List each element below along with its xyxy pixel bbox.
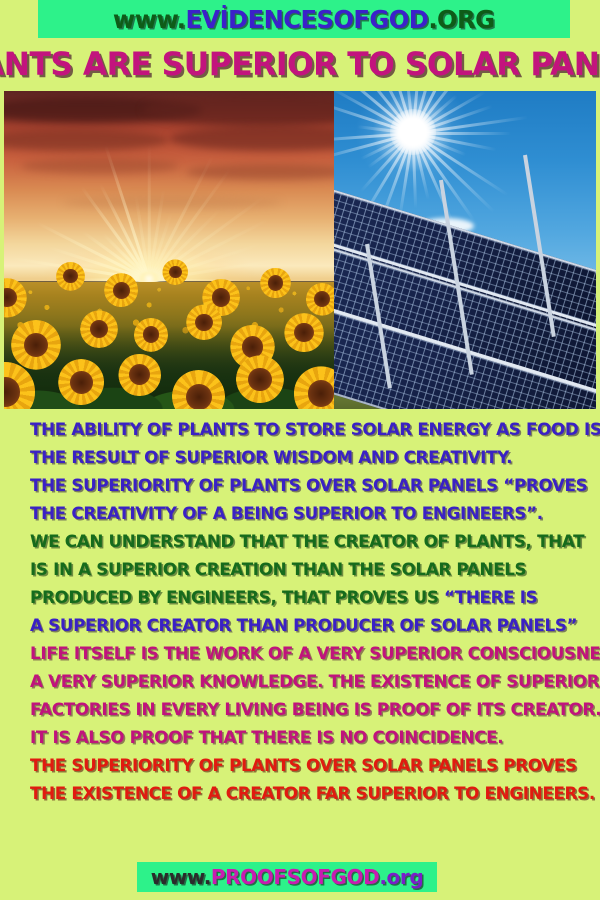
body-text-line: IT IS ALSO PROOF THAT THERE IS NO COINCI… <box>30 724 600 752</box>
footer-url-tld: .org <box>379 865 423 889</box>
footer-url-name: PROOFSOFGOD <box>211 865 379 889</box>
sunflower-field-photo <box>4 91 334 409</box>
body-text-line: THE SUPERIORITY OF PLANTS OVER SOLAR PAN… <box>30 752 600 780</box>
cloud-band <box>21 158 179 174</box>
sunflower <box>169 266 182 279</box>
body-text-line: LIFE ITSELF IS THE WORK OF A VERY SUPERI… <box>30 640 600 668</box>
body-text-segment: A VERY SUPERIOR KNOWLEDGE. THE EXISTENCE… <box>30 672 599 692</box>
body-text-line: IS IN A SUPERIOR CREATION THAN THE SOLAR… <box>30 556 600 584</box>
header-url-www: www. <box>113 5 186 34</box>
poster-root: www.EVİDENCESOFGOD.ORG PLANTS ARE SUPERI… <box>0 0 600 900</box>
body-text-line: THE ABILITY OF PLANTS TO STORE SOLAR ENE… <box>30 416 600 444</box>
sunflower <box>4 288 17 307</box>
sunflower <box>186 384 212 409</box>
body-text-line: A VERY SUPERIOR KNOWLEDGE. THE EXISTENCE… <box>30 668 600 696</box>
body-text-block: THE ABILITY OF PLANTS TO STORE SOLAR ENE… <box>30 416 600 808</box>
footer-site-url[interactable]: www.PROOFSOFGOD.org <box>151 867 424 887</box>
header-url-name: EVİDENCESOFGOD <box>186 5 429 34</box>
sunflower <box>70 371 93 394</box>
body-text-segment: THE SUPERIORITY OF PLANTS OVER SOLAR PAN… <box>30 756 577 776</box>
sunflower <box>195 314 213 332</box>
sunflower <box>90 320 108 338</box>
sunflower <box>242 336 264 358</box>
body-text-line: PRODUCED BY ENGINEERS, THAT PROVES US “T… <box>30 584 600 612</box>
sunflower <box>294 323 313 342</box>
sunflower <box>314 291 330 307</box>
sunflower <box>268 275 283 290</box>
solar-panel-array-photo <box>334 91 596 409</box>
body-text-line: FACTORIES IN EVERY LIVING BEING IS PROOF… <box>30 696 600 724</box>
body-text-line: THE EXISTENCE OF A CREATOR FAR SUPERIOR … <box>30 780 600 808</box>
body-text-segment: FACTORIES IN EVERY LIVING BEING IS PROOF… <box>30 700 600 720</box>
sun-icon <box>390 109 436 155</box>
body-text-segment: IS IN A SUPERIOR CREATION THAN THE SOLAR… <box>30 560 526 580</box>
body-text-segment: LIFE ITSELF IS THE WORK OF A VERY SUPERI… <box>30 644 600 664</box>
body-text-segment: THE EXISTENCE OF A CREATOR FAR SUPERIOR … <box>30 784 595 804</box>
sunflower <box>63 269 77 283</box>
sunflower <box>24 333 48 357</box>
footer-url-band: www.PROOFSOFGOD.org <box>137 862 437 892</box>
body-text-line: THE SUPERIORITY OF PLANTS OVER SOLAR PAN… <box>30 472 600 500</box>
header-url-band: www.EVİDENCESOFGOD.ORG <box>38 0 570 38</box>
sunflower <box>143 326 160 343</box>
body-text-segment: THE SUPERIORITY OF PLANTS OVER SOLAR PAN… <box>30 476 587 496</box>
sunflower <box>129 364 150 385</box>
body-text-segment: THE RESULT OF SUPERIOR WISDOM AND CREATI… <box>30 448 512 468</box>
body-text-segment: WE CAN UNDERSTAND THAT THE CREATOR OF PL… <box>30 532 584 552</box>
sunflower <box>308 380 334 407</box>
footer-url-www: www. <box>151 865 211 889</box>
body-text-segment: “THERE IS <box>444 588 537 608</box>
body-text-line: THE RESULT OF SUPERIOR WISDOM AND CREATI… <box>30 444 600 472</box>
body-text-line: WE CAN UNDERSTAND THAT THE CREATOR OF PL… <box>30 528 600 556</box>
body-text-line: A SUPERIOR CREATOR THAN PRODUCER OF SOLA… <box>30 612 600 640</box>
image-strip <box>4 91 596 409</box>
sunflower <box>113 282 130 299</box>
body-text-segment: PRODUCED BY ENGINEERS, THAT PROVES US <box>30 588 444 608</box>
body-text-segment: IT IS ALSO PROOF THAT THERE IS NO COINCI… <box>30 728 503 748</box>
sunflower <box>4 377 20 406</box>
body-text-segment: THE ABILITY OF PLANTS TO STORE SOLAR ENE… <box>30 420 600 440</box>
page-title: PLANTS ARE SUPERIOR TO SOLAR PANELS <box>6 43 594 85</box>
body-text-segment: THE CREATIVITY OF A BEING SUPERIOR TO EN… <box>30 504 543 524</box>
body-text-segment: A SUPERIOR CREATOR THAN PRODUCER OF SOLA… <box>30 616 577 636</box>
body-text-line: THE CREATIVITY OF A BEING SUPERIOR TO EN… <box>30 500 600 528</box>
sunflower <box>248 368 272 392</box>
sunflower <box>212 288 230 306</box>
header-site-url[interactable]: www.EVİDENCESOFGOD.ORG <box>113 7 494 32</box>
header-url-tld: .ORG <box>429 5 495 34</box>
